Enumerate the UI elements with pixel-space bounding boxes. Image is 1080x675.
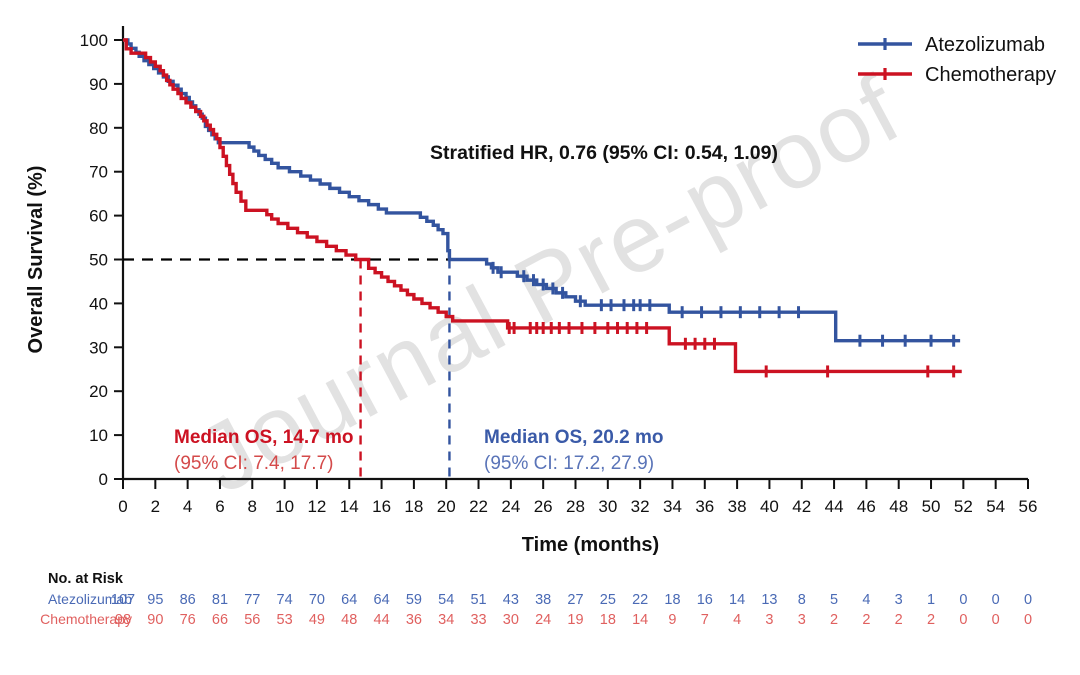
risk-table-cell: 38 (535, 592, 551, 608)
risk-table-cell: 3 (895, 592, 903, 608)
risk-table-cell: 54 (438, 592, 454, 608)
risk-table-cell: 64 (341, 592, 357, 608)
hazard-ratio-annotation: Stratified HR, 0.76 (95% CI: 0.54, 1.09) (430, 142, 778, 164)
median-os-chemotherapy-label: Median OS, 14.7 mo (174, 427, 354, 448)
x-axis-tick-label: 56 (1019, 497, 1038, 516)
risk-table-cell: 5 (830, 592, 838, 608)
x-axis-tick-label: 30 (598, 497, 617, 516)
x-axis-tick-label: 16 (372, 497, 391, 516)
x-axis-tick-label: 4 (183, 497, 192, 516)
risk-table-cell: 19 (567, 612, 583, 628)
risk-table-cell: 36 (406, 612, 422, 628)
x-axis-tick-label: 20 (437, 497, 456, 516)
y-axis-tick-label: 30 (89, 338, 108, 357)
x-axis-tick-label: 54 (986, 497, 1005, 516)
y-axis-tick-label: 20 (89, 382, 108, 401)
risk-table-cell: 2 (895, 612, 903, 628)
risk-table-cell: 13 (761, 592, 777, 608)
risk-table-cell: 95 (147, 592, 163, 608)
x-axis-tick-label: 6 (215, 497, 224, 516)
x-axis-tick-label: 14 (340, 497, 359, 516)
x-axis-tick-label: 10 (275, 497, 294, 516)
risk-table-cell: 74 (277, 592, 293, 608)
x-axis-tick-label: 34 (663, 497, 682, 516)
risk-table-cell: 8 (798, 592, 806, 608)
risk-table-cell: 18 (664, 592, 680, 608)
risk-table-cell: 98 (115, 612, 131, 628)
risk-table-cell: 51 (470, 592, 486, 608)
risk-table-cell: 27 (567, 592, 583, 608)
risk-table-title: No. at Risk (48, 571, 124, 587)
x-axis-tick-label: 18 (404, 497, 423, 516)
median-os-chemotherapy-ci: (95% CI: 7.4, 17.7) (174, 453, 333, 474)
risk-table-cell: 1 (927, 592, 935, 608)
y-axis-tick-label: 0 (99, 470, 108, 489)
risk-table-cell: 66 (212, 612, 228, 628)
risk-table-cell: 24 (535, 612, 551, 628)
y-axis-tick-label: 70 (89, 163, 108, 182)
risk-table-cell: 44 (374, 612, 390, 628)
risk-table-cell: 76 (180, 612, 196, 628)
x-axis-tick-label: 40 (760, 497, 779, 516)
x-axis-tick-label: 46 (857, 497, 876, 516)
x-axis-tick-label: 12 (307, 497, 326, 516)
risk-table-cell: 14 (632, 612, 648, 628)
risk-table-cell: 2 (862, 612, 870, 628)
risk-table-cell: 48 (341, 612, 357, 628)
risk-table-cell: 2 (927, 612, 935, 628)
x-axis-tick-label: 8 (248, 497, 257, 516)
y-axis-tick-label: 80 (89, 119, 108, 138)
y-axis-tick-label: 60 (89, 207, 108, 226)
risk-table-cell: 0 (959, 612, 967, 628)
risk-table-cell: 33 (470, 612, 486, 628)
x-axis-title: Time (months) (522, 534, 659, 556)
median-os-atezolizumab-label: Median OS, 20.2 mo (484, 427, 664, 448)
y-axis-tick-label: 50 (89, 251, 108, 270)
risk-table-cell: 7 (701, 612, 709, 628)
x-axis-tick-label: 38 (728, 497, 747, 516)
plot-generated-content: 0102030405060708090100024681012141618202… (25, 26, 1056, 628)
x-axis-tick-label: 50 (922, 497, 941, 516)
risk-table-cell: 9 (668, 612, 676, 628)
y-axis-tick-label: 90 (89, 75, 108, 94)
survival-chart-figure: Journal Pre-proof 0102030405060708090100… (0, 0, 1080, 675)
risk-table-cell: 43 (503, 592, 519, 608)
risk-table-cell: 59 (406, 592, 422, 608)
risk-table-cell: 70 (309, 592, 325, 608)
risk-table-cell: 0 (1024, 612, 1032, 628)
risk-table-cell: 14 (729, 592, 745, 608)
y-axis-tick-label: 100 (80, 31, 108, 50)
x-axis-tick-label: 0 (118, 497, 127, 516)
legend-label-atezolizumab: Atezolizumab (925, 34, 1045, 56)
y-axis-tick-label: 10 (89, 426, 108, 445)
risk-table-cell: 18 (600, 612, 616, 628)
x-axis-tick-label: 32 (631, 497, 650, 516)
risk-table-cell: 4 (733, 612, 741, 628)
risk-table-cell: 56 (244, 612, 260, 628)
y-axis-tick-label: 40 (89, 294, 108, 313)
risk-table-cell: 107 (111, 592, 135, 608)
risk-table-cell: 22 (632, 592, 648, 608)
risk-table-cell: 0 (992, 612, 1000, 628)
x-axis-tick-label: 52 (954, 497, 973, 516)
risk-table-cell: 3 (765, 612, 773, 628)
risk-table-cell: 30 (503, 612, 519, 628)
kaplan-meier-plot: 0102030405060708090100024681012141618202… (0, 0, 1080, 675)
risk-table-cell: 0 (1024, 592, 1032, 608)
x-axis-tick-label: 42 (792, 497, 811, 516)
risk-table-cell: 90 (147, 612, 163, 628)
risk-table-cell: 49 (309, 612, 325, 628)
x-axis-tick-label: 26 (534, 497, 553, 516)
x-axis-tick-label: 48 (889, 497, 908, 516)
risk-table-cell: 53 (277, 612, 293, 628)
x-axis-tick-label: 36 (695, 497, 714, 516)
median-os-atezolizumab-ci: (95% CI: 17.2, 27.9) (484, 453, 654, 474)
risk-table-cell: 3 (798, 612, 806, 628)
x-axis-tick-label: 2 (151, 497, 160, 516)
risk-table-cell: 81 (212, 592, 228, 608)
risk-table-cell: 64 (374, 592, 390, 608)
risk-table-cell: 16 (697, 592, 713, 608)
risk-table-cell: 34 (438, 612, 454, 628)
survival-curve-atezolizumab (123, 40, 960, 341)
risk-table-cell: 2 (830, 612, 838, 628)
risk-table-cell: 4 (862, 592, 870, 608)
plot-axes (123, 26, 1028, 479)
x-axis-tick-label: 22 (469, 497, 488, 516)
x-axis-tick-label: 24 (501, 497, 520, 516)
x-axis-tick-label: 44 (825, 497, 844, 516)
risk-table-cell: 86 (180, 592, 196, 608)
legend-label-chemotherapy: Chemotherapy (925, 64, 1056, 86)
risk-table-cell: 25 (600, 592, 616, 608)
y-axis-title: Overall Survival (%) (25, 166, 47, 354)
x-axis-tick-label: 28 (566, 497, 585, 516)
risk-table-cell: 0 (992, 592, 1000, 608)
risk-table-cell: 77 (244, 592, 260, 608)
risk-table-cell: 0 (959, 592, 967, 608)
